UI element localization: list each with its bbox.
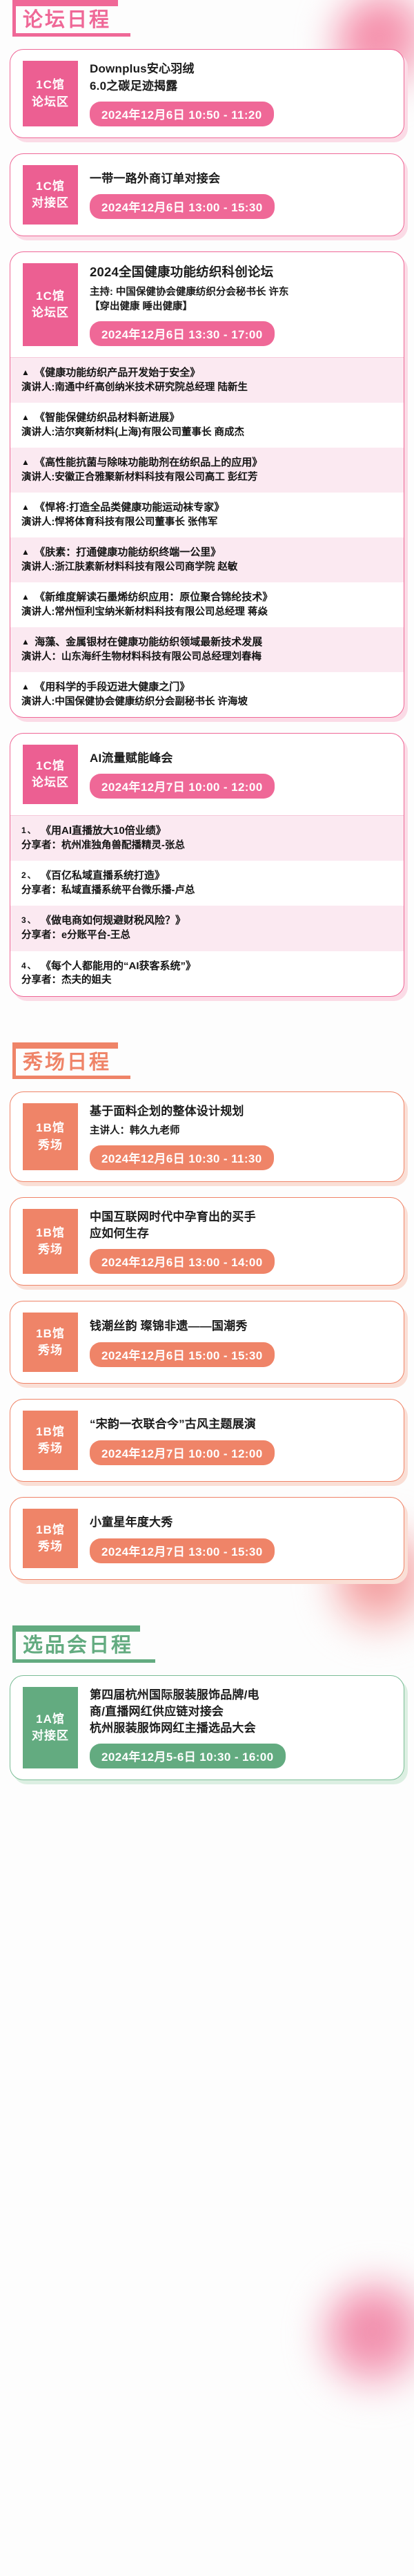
card-main: 1C馆论坛区AI流量赋能峰会2024年12月7日 10:00 - 12:00: [10, 734, 404, 815]
schedule-card[interactable]: 1B馆秀场“宋韵一衣联合今”古风主题展演2024年12月7日 10:00 - 1…: [10, 1399, 404, 1482]
card-main: 1B馆秀场小童星年度大秀2024年12月7日 13:00 - 15:30: [10, 1498, 404, 1579]
session-title: ▲ 《智能保健纺织品材料新进展》: [21, 410, 394, 426]
triangle-bullet-icon: ▲: [21, 682, 34, 691]
triangle-bullet-icon: ▲: [21, 547, 34, 557]
card-title: 基于面料企划的整体设计规划: [90, 1103, 393, 1120]
card-main: 1B馆秀场基于面料企划的整体设计规划主讲人：韩久九老师2024年12月6日 10…: [10, 1092, 404, 1181]
card-time-badge: 2024年12月6日 13:00 - 14:00: [90, 1249, 275, 1274]
venue-line: 秀场: [38, 1241, 63, 1258]
section-heading-forum: 论坛日程: [12, 0, 118, 37]
session-speaker: 演讲人:常州恒利宝纳米新材料科技有限公司总经理 蒋焱: [21, 605, 394, 620]
venue-line: 1B馆: [36, 1225, 65, 1241]
card-time-badge: 2024年12月7日 10:00 - 12:00: [90, 774, 275, 799]
session-speaker: 演讲人:悍将体育科技有限公司董事长 张伟军: [21, 515, 394, 530]
card-main: 1C馆论坛区Downplus安心羽绒6.0之碳足迹揭露2024年12月6日 10…: [10, 50, 404, 137]
card-body: 钱潮丝韵 璨锦非遗——国潮秀2024年12月6日 15:00 - 15:30: [90, 1313, 393, 1372]
session-title: 4、 《每个人都能用的“AI获客系统”》: [21, 959, 394, 974]
venue-line: 1A馆: [36, 1711, 65, 1728]
session-speaker: 演讲人:中国保健协会健康纺织分会副秘书长 许海坡: [21, 695, 394, 709]
section-gap: [10, 1012, 404, 1042]
session-title: 2、 《百亿私域直播系统打造》: [21, 868, 394, 884]
session-row[interactable]: ▲ 《新维度解读石墨烯纺织应用：原位聚合锦纶技术》演讲人:常州恒利宝纳米新材料科…: [10, 582, 404, 627]
card-time-badge: 2024年12月6日 13:00 - 15:30: [90, 194, 275, 219]
card-time-badge: 2024年12月5-6日 10:30 - 16:00: [90, 1744, 286, 1768]
session-speaker: 演讲人:洁尔爽新材料(上海)有限公司董事长 商成杰: [21, 426, 394, 440]
session-speaker: 演讲人:南通中纤高创纳米技术研究院总经理 陆新生: [21, 381, 394, 395]
schedule-card[interactable]: 1B馆秀场小童星年度大秀2024年12月7日 13:00 - 15:30: [10, 1497, 404, 1580]
schedule-card[interactable]: 1C馆对接区一带一路外商订单对接会2024年12月6日 13:00 - 15:3…: [10, 153, 404, 236]
number-bullet: 4、: [21, 961, 41, 971]
session-speaker: 分享者：杭州准独角兽配播精灵-张总: [21, 839, 394, 853]
card-title: 一带一路外商订单对接会: [90, 171, 393, 187]
card-title: 小童星年度大秀: [90, 1514, 393, 1531]
session-title: ▲ 《高性能抗菌与除味功能助剂在纺织品上的应用》: [21, 455, 394, 470]
number-bullet: 1、: [21, 826, 41, 835]
session-list: 1、 《用AI直播放大10倍业绩》分享者：杭州准独角兽配播精灵-张总2、 《百亿…: [10, 815, 404, 995]
venue-badge: 1B馆秀场: [23, 1313, 78, 1372]
venue-badge: 1C馆对接区: [23, 165, 78, 225]
session-row[interactable]: ▲ 《智能保健纺织品材料新进展》演讲人:洁尔爽新材料(上海)有限公司董事长 商成…: [10, 403, 404, 448]
venue-badge: 1B馆秀场: [23, 1509, 78, 1568]
triangle-bullet-icon: ▲: [21, 592, 34, 602]
session-speaker: 演讲人:浙江肤素新材料科技有限公司商学院 赵敏: [21, 560, 394, 575]
card-body: 中国互联网时代中孕育出的买手应如何生存2024年12月6日 13:00 - 14…: [90, 1209, 393, 1274]
card-subtitle: 主持: 中国保健协会健康纺织分会秘书长 许东【穿出健康 睡出健康】: [90, 285, 393, 314]
heading-inner: 论坛日程: [12, 6, 118, 33]
session-speaker: 演讲人：山东海纤生物材料科技有限公司总经理刘春梅: [21, 650, 394, 665]
schedule-card[interactable]: 1B馆秀场钱潮丝韵 璨锦非遗——国潮秀2024年12月6日 15:00 - 15…: [10, 1301, 404, 1384]
session-row[interactable]: 1、 《用AI直播放大10倍业绩》分享者：杭州准独角兽配播精灵-张总: [10, 816, 404, 861]
triangle-bullet-icon: ▲: [21, 457, 34, 467]
card-main: 1B馆秀场中国互联网时代中孕育出的买手应如何生存2024年12月6日 13:00…: [10, 1198, 404, 1285]
schedule-card[interactable]: 1B馆秀场基于面料企划的整体设计规划主讲人：韩久九老师2024年12月6日 10…: [10, 1091, 404, 1182]
card-body: 第四届杭州国际服装服饰品牌/电商/直播网红供应链对接会杭州服装服饰网红主播选品大…: [90, 1687, 393, 1768]
card-title: 2024全国健康功能纺织科创论坛: [90, 263, 393, 281]
card-title: 第四届杭州国际服装服饰品牌/电商/直播网红供应链对接会杭州服装服饰网红主播选品大…: [90, 1687, 393, 1737]
session-row[interactable]: 2、 《百亿私域直播系统打造》分享者：私域直播系统平台微乐播-卢总: [10, 861, 404, 906]
number-bullet: 3、: [21, 915, 41, 925]
session-speaker: 分享者：私域直播系统平台微乐播-卢总: [21, 884, 394, 898]
heading-text: 选品会日程: [23, 1634, 133, 1657]
venue-line: 1B馆: [36, 1424, 65, 1440]
card-title: 钱潮丝韵 璨锦非遗——国潮秀: [90, 1318, 393, 1335]
session-title: 3、 《做电商如何规避财税风险？》: [21, 913, 394, 928]
session-title: ▲ 《肤素：打通健康功能纺织终端一公里》: [21, 545, 394, 560]
venue-line: 秀场: [38, 1440, 63, 1457]
venue-badge: 1B馆秀场: [23, 1411, 78, 1470]
number-bullet: 2、: [21, 870, 41, 880]
heading-text: 论坛日程: [23, 9, 111, 31]
session-row[interactable]: 3、 《做电商如何规避财税风险？》分享者：e分账平台-王总: [10, 906, 404, 951]
schedule-card[interactable]: 1C馆论坛区Downplus安心羽绒6.0之碳足迹揭露2024年12月6日 10…: [10, 49, 404, 137]
triangle-bullet-icon: ▲: [21, 412, 34, 422]
card-title: AI流量赋能峰会: [90, 750, 393, 767]
venue-badge: 1C馆论坛区: [23, 61, 78, 126]
card-time-badge: 2024年12月6日 10:50 - 11:20: [90, 102, 274, 126]
schedule-card[interactable]: 1A馆对接区第四届杭州国际服装服饰品牌/电商/直播网红供应链对接会杭州服装服饰网…: [10, 1675, 404, 1780]
card-main: 1A馆对接区第四届杭州国际服装服饰品牌/电商/直播网红供应链对接会杭州服装服饰网…: [10, 1676, 404, 1780]
schedule-card[interactable]: 1C馆论坛区AI流量赋能峰会2024年12月7日 10:00 - 12:001、…: [10, 733, 404, 996]
triangle-bullet-icon: ▲: [21, 368, 34, 377]
session-row[interactable]: 4、 《每个人都能用的“AI获客系统”》分享者：杰夫的姐夫: [10, 951, 404, 996]
card-body: 小童星年度大秀2024年12月7日 13:00 - 15:30: [90, 1509, 393, 1568]
card-time-badge: 2024年12月7日 10:00 - 12:00: [90, 1440, 275, 1465]
venue-line: 秀场: [38, 1538, 63, 1555]
venue-badge: 1A馆对接区: [23, 1687, 78, 1768]
heading-inner: 秀场日程: [12, 1049, 118, 1076]
section-heading-selection: 选品会日程: [12, 1625, 140, 1662]
heading-top-bar: [12, 0, 118, 6]
venue-line: 1C馆: [36, 758, 65, 774]
venue-line: 对接区: [32, 195, 69, 211]
heading-top-bar: [12, 1042, 118, 1049]
venue-line: 秀场: [38, 1137, 63, 1154]
venue-line: 论坛区: [32, 305, 69, 321]
card-body: AI流量赋能峰会2024年12月7日 10:00 - 12:00: [90, 745, 393, 804]
session-title: ▲ 《健康功能纺织产品开发始于安全》: [21, 365, 394, 381]
session-list: ▲ 《健康功能纺织产品开发始于安全》演讲人:南通中纤高创纳米技术研究院总经理 陆…: [10, 357, 404, 717]
section-gap: [10, 1595, 404, 1625]
schedule-card[interactable]: 1C馆论坛区2024全国健康功能纺织科创论坛主持: 中国保健协会健康纺织分会秘书…: [10, 251, 404, 718]
card-time-badge: 2024年12月6日 13:30 - 17:00: [90, 321, 275, 346]
venue-line: 对接区: [32, 1728, 69, 1744]
session-speaker: 分享者：杰夫的姐夫: [21, 973, 394, 988]
triangle-bullet-icon: ▲: [21, 502, 34, 512]
venue-badge: 1B馆秀场: [23, 1103, 78, 1170]
heading-bottom-bar: [12, 1076, 130, 1079]
session-speaker: 演讲人:安徽正合雅聚新材料科技有限公司高工 彭红芳: [21, 470, 394, 485]
venue-line: 1C馆: [36, 288, 65, 305]
card-time-badge: 2024年12月7日 13:00 - 15:30: [90, 1538, 275, 1563]
triangle-bullet-icon: ▲: [21, 637, 34, 647]
session-title: ▲ 《用科学的手段迈进大健康之门》: [21, 680, 394, 695]
venue-line: 秀场: [38, 1342, 63, 1359]
card-time-badge: 2024年12月6日 10:30 - 11:30: [90, 1145, 274, 1170]
venue-badge: 1B馆秀场: [23, 1209, 78, 1274]
venue-badge: 1C馆论坛区: [23, 263, 78, 346]
schedule-card[interactable]: 1B馆秀场中国互联网时代中孕育出的买手应如何生存2024年12月6日 13:00…: [10, 1197, 404, 1286]
card-body: Downplus安心羽绒6.0之碳足迹揭露2024年12月6日 10:50 - …: [90, 61, 393, 126]
session-row[interactable]: ▲ 《高性能抗菌与除味功能助剂在纺织品上的应用》演讲人:安徽正合雅聚新材料科技有…: [10, 448, 404, 493]
venue-line: 1B馆: [36, 1120, 65, 1136]
card-title: 中国互联网时代中孕育出的买手应如何生存: [90, 1209, 393, 1242]
card-title: “宋韵一衣联合今”古风主题展演: [90, 1416, 393, 1433]
heading-top-bar: [12, 1625, 140, 1632]
card-title: Downplus安心羽绒6.0之碳足迹揭露: [90, 61, 393, 94]
venue-line: 论坛区: [32, 94, 69, 111]
venue-line: 1B馆: [36, 1326, 65, 1342]
venue-line: 1C馆: [36, 178, 65, 195]
card-time-badge: 2024年12月6日 15:00 - 15:30: [90, 1342, 275, 1367]
card-subtitle: 主讲人：韩久九老师: [90, 1124, 393, 1138]
heading-inner: 选品会日程: [12, 1632, 140, 1659]
heading-bottom-bar: [12, 33, 130, 37]
session-title: 1、 《用AI直播放大10倍业绩》: [21, 823, 394, 839]
venue-line: 1B馆: [36, 1522, 65, 1538]
session-row[interactable]: ▲ 《悍将:打造全品类健康功能运动袜专家》演讲人:悍将体育科技有限公司董事长 张…: [10, 493, 404, 537]
card-body: “宋韵一衣联合今”古风主题展演2024年12月7日 10:00 - 12:00: [90, 1411, 393, 1470]
card-body: 基于面料企划的整体设计规划主讲人：韩久九老师2024年12月6日 10:30 -…: [90, 1103, 393, 1170]
session-title: ▲ 《悍将:打造全品类健康功能运动袜专家》: [21, 500, 394, 515]
card-main: 1B馆秀场“宋韵一衣联合今”古风主题展演2024年12月7日 10:00 - 1…: [10, 1400, 404, 1481]
section-heading-show: 秀场日程: [12, 1042, 118, 1079]
card-body: 一带一路外商订单对接会2024年12月6日 13:00 - 15:30: [90, 165, 393, 225]
session-row[interactable]: ▲ 《用科学的手段迈进大健康之门》演讲人:中国保健协会健康纺织分会副秘书长 许海…: [10, 672, 404, 717]
venue-badge: 1C馆论坛区: [23, 745, 78, 804]
card-body: 2024全国健康功能纺织科创论坛主持: 中国保健协会健康纺织分会秘书长 许东【穿…: [90, 263, 393, 346]
heading-text: 秀场日程: [23, 1051, 111, 1074]
card-main: 1C馆论坛区2024全国健康功能纺织科创论坛主持: 中国保健协会健康纺织分会秘书…: [10, 252, 404, 357]
session-row[interactable]: ▲ 《健康功能纺织产品开发始于安全》演讲人:南通中纤高创纳米技术研究院总经理 陆…: [10, 358, 404, 403]
venue-line: 论坛区: [32, 774, 69, 791]
decorative-blob-bottom: [321, 2280, 414, 2394]
schedule-page: 论坛日程1C馆论坛区Downplus安心羽绒6.0之碳足迹揭露2024年12月6…: [0, 0, 414, 1813]
venue-line: 1C馆: [36, 77, 65, 93]
card-main: 1B馆秀场钱潮丝韵 璨锦非遗——国潮秀2024年12月6日 15:00 - 15…: [10, 1301, 404, 1383]
heading-bottom-bar: [12, 1659, 155, 1663]
session-title: ▲ 海藻、金属银材在健康功能纺织领域最新技术发展: [21, 635, 394, 650]
session-title: ▲ 《新维度解读石墨烯纺织应用：原位聚合锦纶技术》: [21, 590, 394, 605]
session-speaker: 分享者：e分账平台-王总: [21, 928, 394, 943]
session-row[interactable]: ▲ 海藻、金属银材在健康功能纺织领域最新技术发展演讲人：山东海纤生物材料科技有限…: [10, 627, 404, 672]
card-main: 1C馆对接区一带一路外商订单对接会2024年12月6日 13:00 - 15:3…: [10, 154, 404, 236]
session-row[interactable]: ▲ 《肤素：打通健康功能纺织终端一公里》演讲人:浙江肤素新材料科技有限公司商学院…: [10, 537, 404, 582]
